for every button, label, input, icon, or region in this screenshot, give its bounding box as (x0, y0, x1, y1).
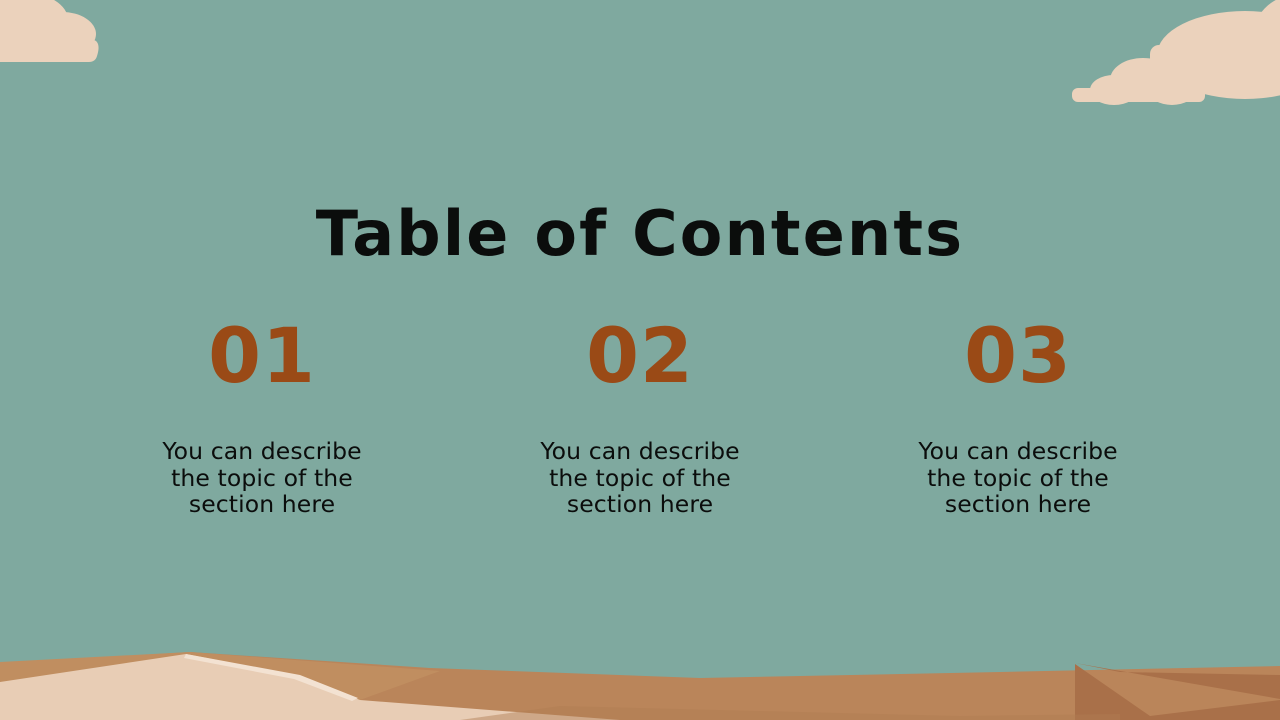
toc-number-02: 02 (586, 318, 694, 394)
toc-description-01: You can describe the topic of the sectio… (155, 438, 370, 518)
toc-description-02: You can describe the topic of the sectio… (533, 438, 748, 518)
toc-item-03[interactable]: 03 You can describe the topic of the sec… (868, 318, 1168, 518)
toc-number-03: 03 (964, 318, 1072, 394)
toc-item-01[interactable]: 01 You can describe the topic of the sec… (112, 318, 412, 518)
toc-number-01: 01 (208, 318, 316, 394)
page-title: Table of Contents (0, 200, 1280, 268)
slide-table-of-contents: Table of Contents 01 You can describe th… (0, 0, 1280, 720)
toc-description-03: You can describe the topic of the sectio… (911, 438, 1126, 518)
toc-item-02[interactable]: 02 You can describe the topic of the sec… (490, 318, 790, 518)
slide-content: Table of Contents 01 You can describe th… (0, 0, 1280, 720)
toc-columns: 01 You can describe the topic of the sec… (112, 318, 1168, 518)
